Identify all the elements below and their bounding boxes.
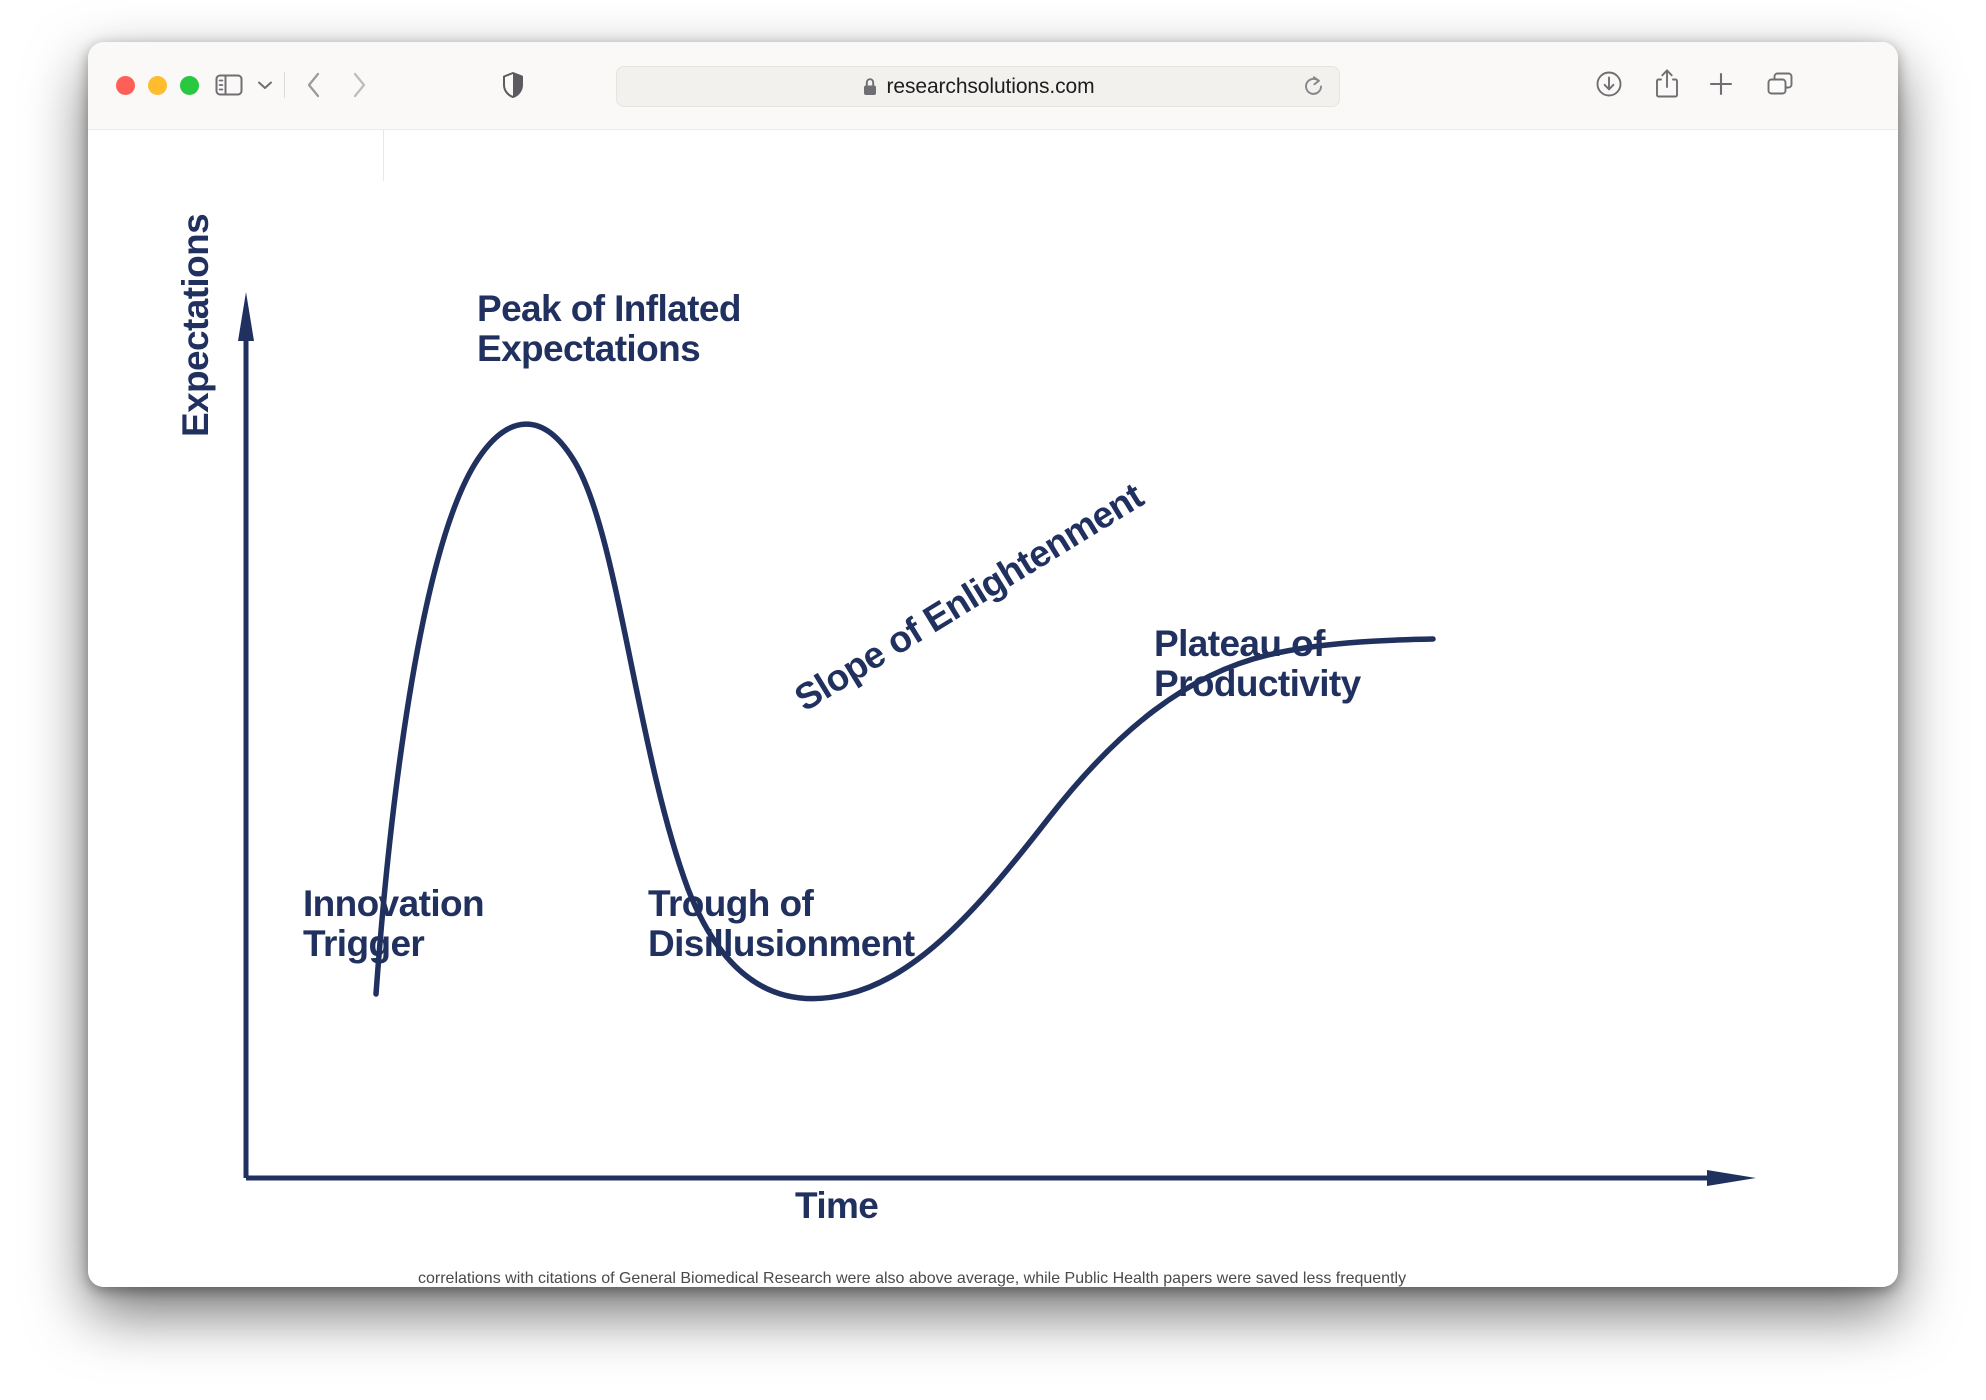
back-button[interactable] [301, 70, 327, 100]
lock-icon [862, 77, 878, 97]
screenshot-root: researchsolutions.com [0, 0, 1986, 1400]
tab-overview-icon[interactable] [1766, 70, 1794, 98]
minimize-window-button[interactable] [148, 76, 167, 95]
browser-window: researchsolutions.com [88, 42, 1898, 1287]
close-window-button[interactable] [116, 76, 135, 95]
y-axis-label: Expectations [176, 214, 216, 437]
hype-cycle-chart: Expectations Peak of Inflated Expectatio… [88, 129, 1898, 1287]
chevron-down-icon[interactable] [254, 74, 276, 96]
toolbar-divider [284, 72, 285, 98]
hype-cycle-svg [88, 129, 1898, 1287]
annotation-plateau-of-productivity: Plateau of Productivity [1154, 624, 1361, 704]
page-content: Expectations Peak of Inflated Expectatio… [88, 129, 1898, 1287]
downloads-icon[interactable] [1595, 70, 1623, 98]
address-bar[interactable]: researchsolutions.com [616, 66, 1340, 107]
url-text: researchsolutions.com [887, 75, 1095, 99]
new-tab-icon[interactable] [1707, 70, 1735, 98]
window-traffic-lights [116, 76, 199, 95]
y-axis [238, 292, 254, 1178]
page-footer-text: correlations with citations of General B… [418, 1268, 1568, 1287]
sidebar-toggle-icon[interactable] [214, 72, 244, 98]
privacy-shield-icon[interactable] [500, 70, 526, 100]
forward-button[interactable] [346, 70, 372, 100]
browser-toolbar: researchsolutions.com [88, 42, 1898, 130]
zoom-window-button[interactable] [180, 76, 199, 95]
x-axis [246, 1170, 1756, 1186]
annotation-innovation-trigger: Innovation Trigger [303, 884, 484, 964]
x-axis-label: Time [795, 1186, 878, 1226]
share-icon[interactable] [1654, 68, 1680, 99]
reload-icon[interactable] [1302, 75, 1325, 98]
annotation-trough-of-disillusionment: Trough of Disillusionment [648, 884, 914, 964]
annotation-peak-of-inflated-expectations: Peak of Inflated Expectations [477, 289, 741, 369]
